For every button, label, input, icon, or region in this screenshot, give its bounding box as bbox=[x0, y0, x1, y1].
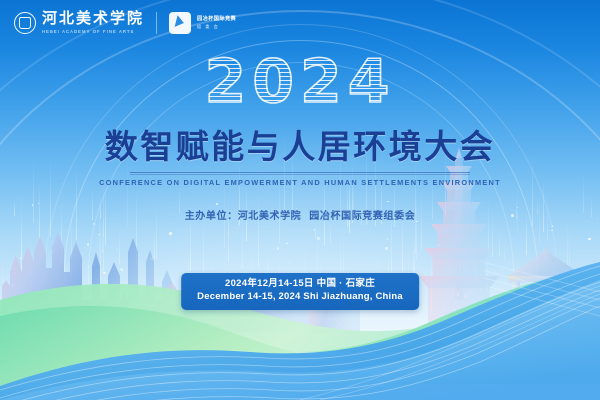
event-date-cn: 2024年12月14-15日 中国 · 石家庄 bbox=[197, 278, 403, 291]
conference-banner: 河北美术学院 HEBEI ACADEMY OF FINE ARTS 园冶杯国际竞… bbox=[0, 0, 600, 400]
logo-yuanye-cup-cn: 园冶杯国际竞赛 bbox=[197, 16, 236, 24]
logo-yuanye-cup[interactable]: 园冶杯国际竞赛 组 委 会 bbox=[169, 12, 236, 34]
hero-year: 2024 bbox=[205, 52, 396, 112]
page-subtitle: CONFERENCE ON DIGITAL EMPOWERMENT AND HU… bbox=[0, 178, 600, 188]
logo-hebei-academy[interactable]: 河北美术学院 HEBEI ACADEMY OF FINE ARTS bbox=[14, 12, 144, 34]
organizer-line: 主办单位：河北美术学院园冶杯国际竞赛组委会 bbox=[0, 207, 600, 222]
organizer-label: 主办单位： bbox=[185, 211, 238, 222]
logo-hebei-academy-cn: 河北美术学院 bbox=[42, 12, 144, 28]
organizer-name-2: 园冶杯国际竞赛组委会 bbox=[309, 211, 415, 222]
event-date-badge: 2024年12月14-15日 中国 · 石家庄 December 14-15, … bbox=[181, 273, 419, 310]
logo-divider bbox=[156, 12, 157, 34]
hero-year-wrap: 2024 bbox=[0, 52, 600, 112]
logo-yuanye-cup-sub: 组 委 会 bbox=[197, 24, 236, 30]
event-date-en: December 14-15, 2024 Shi Jiazhuang, Chin… bbox=[197, 291, 403, 304]
yuanye-cup-logo-icon bbox=[169, 12, 191, 34]
header-logos: 河北美术学院 HEBEI ACADEMY OF FINE ARTS 园冶杯国际竞… bbox=[14, 12, 236, 34]
logo-hebei-academy-en: HEBEI ACADEMY OF FINE ARTS bbox=[42, 30, 144, 34]
page-title: 数智赋能与人居环境大会 bbox=[0, 128, 600, 166]
organizer-name-1: 河北美术学院 bbox=[238, 211, 302, 222]
hero-title-wrap: 数智赋能与人居环境大会 CONFERENCE ON DIGITAL EMPOWE… bbox=[0, 128, 600, 188]
academy-seal-icon bbox=[14, 12, 36, 34]
title-rule-divider bbox=[130, 172, 470, 175]
